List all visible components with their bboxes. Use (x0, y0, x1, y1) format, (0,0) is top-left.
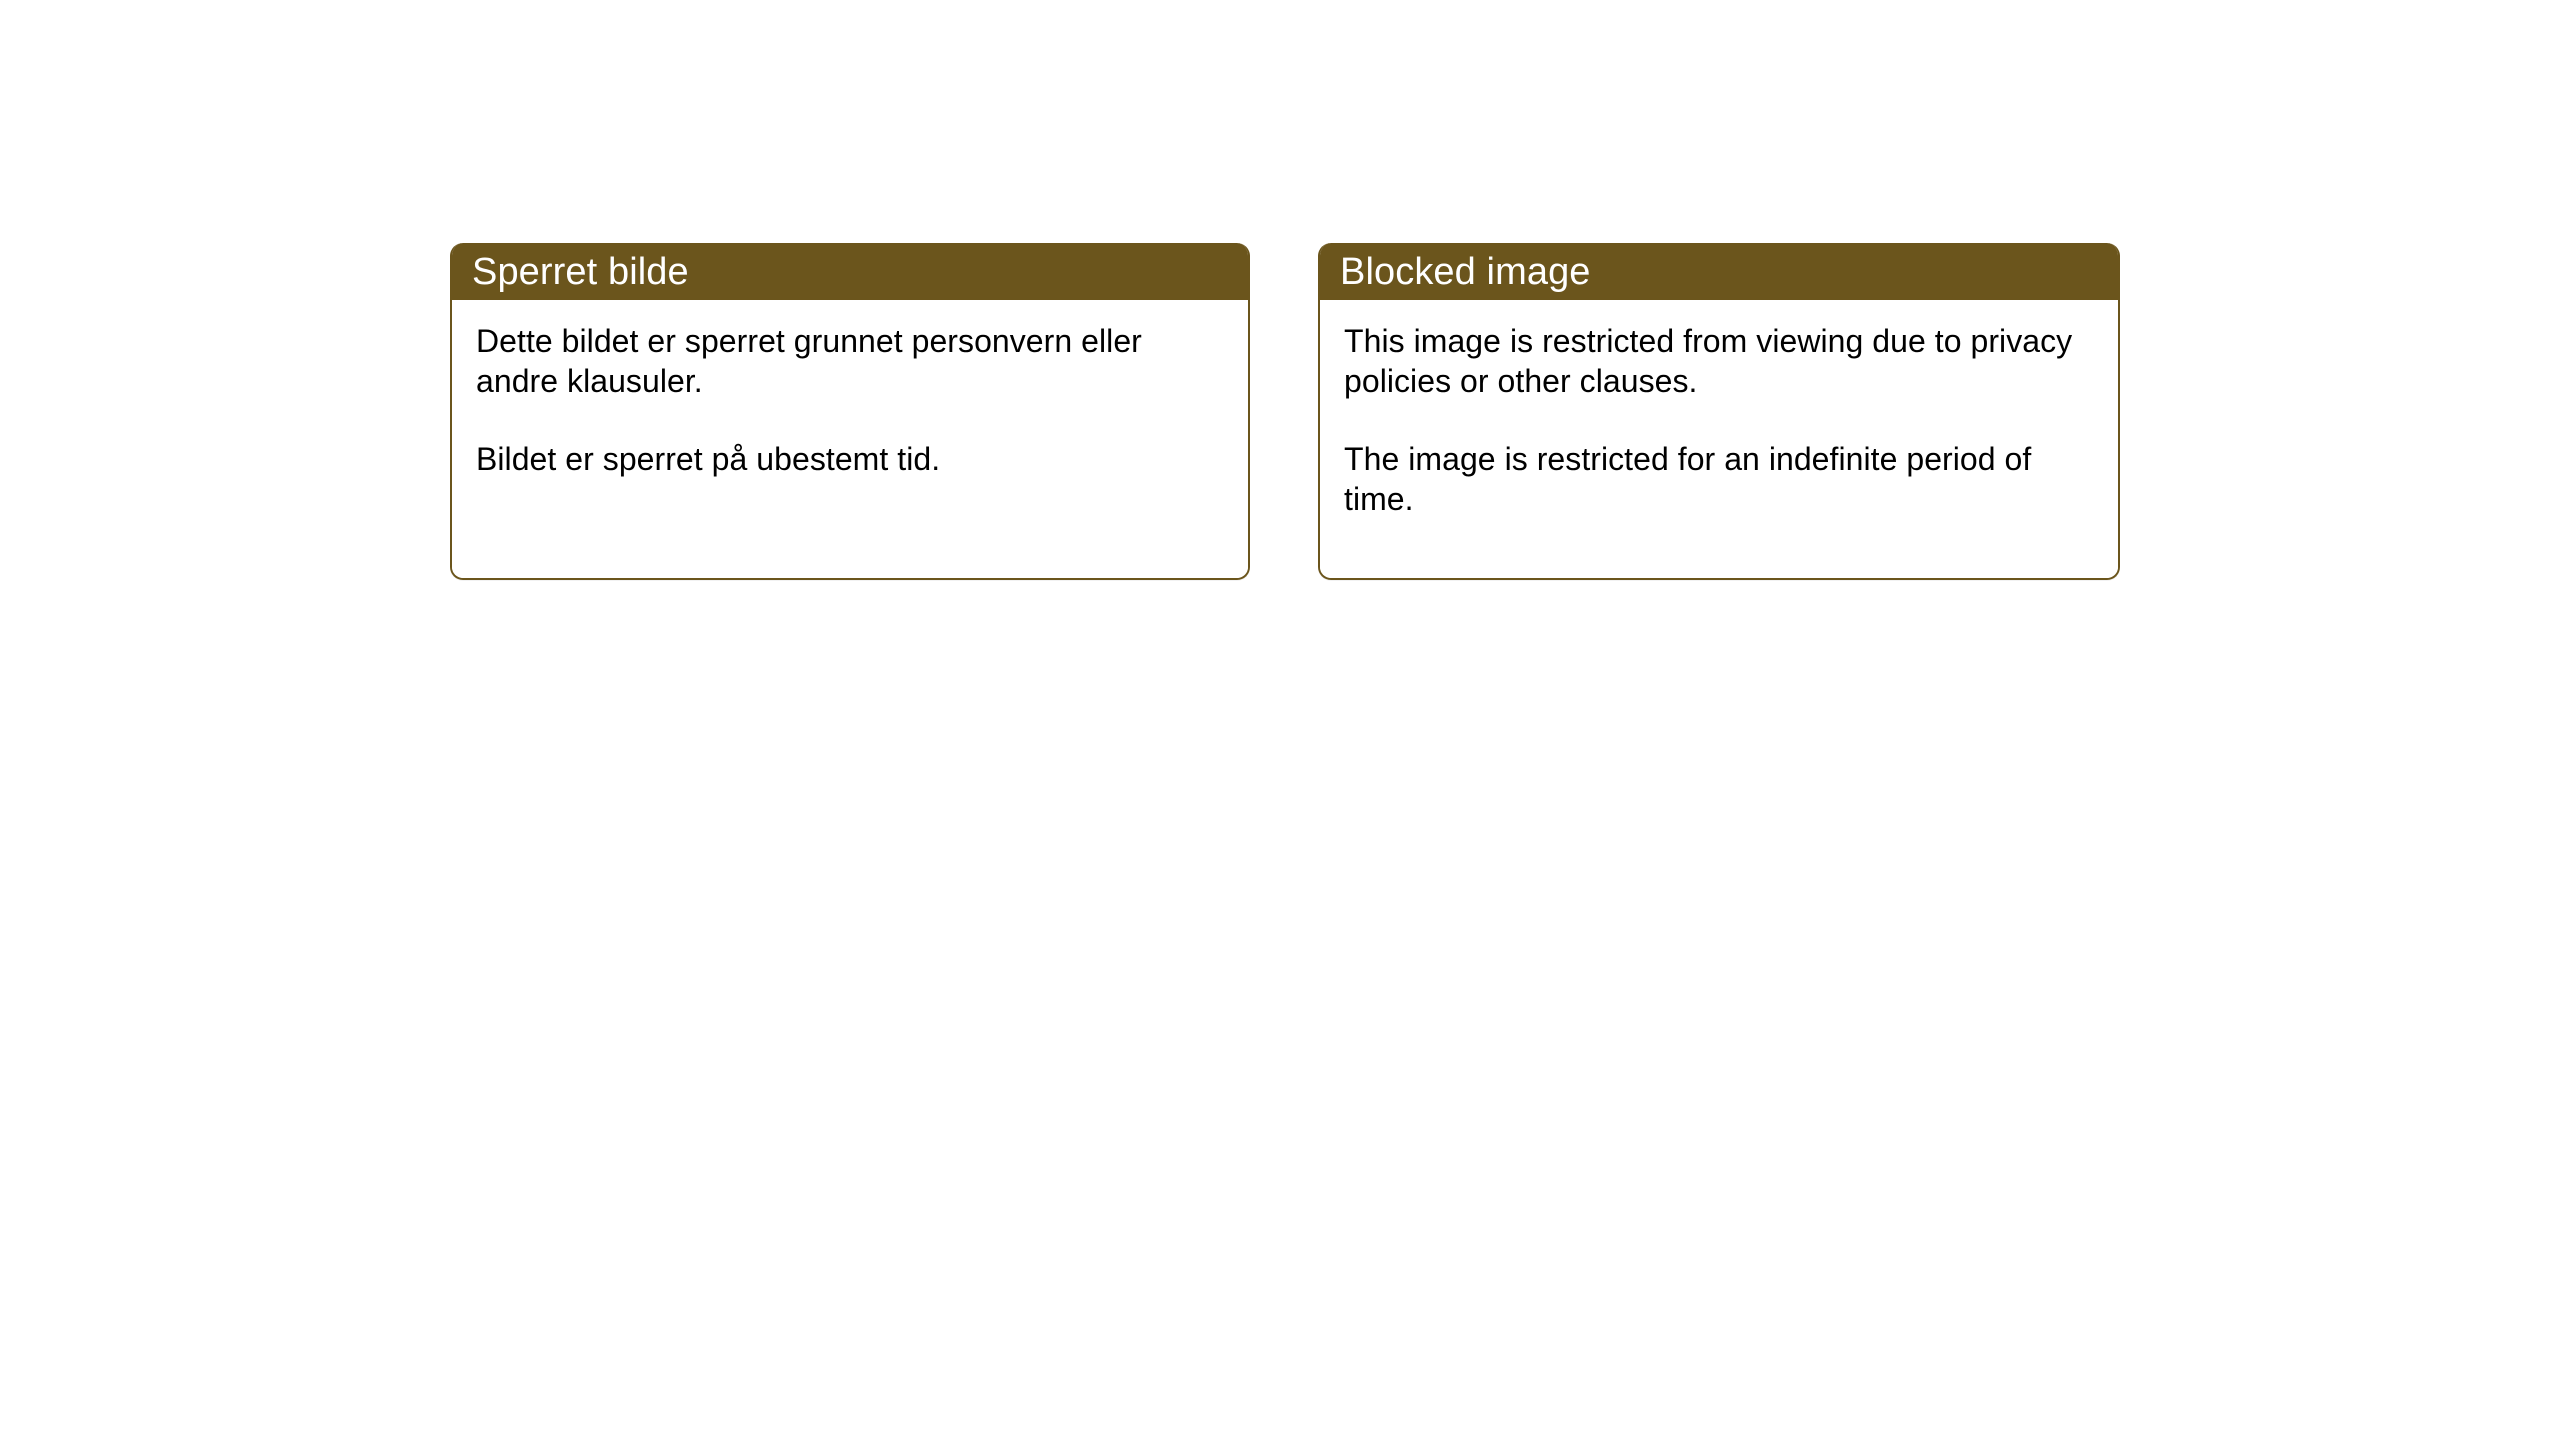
panel-body-english: This image is restricted from viewing du… (1320, 300, 2118, 578)
blocked-image-panel-english: Blocked image This image is restricted f… (1318, 243, 2120, 580)
panel-body-norwegian: Dette bildet er sperret grunnet personve… (452, 300, 1248, 578)
panel-paragraph-reason-norwegian: Dette bildet er sperret grunnet personve… (476, 322, 1224, 401)
panel-header-norwegian: Sperret bilde (450, 243, 1250, 300)
panel-header-english: Blocked image (1318, 243, 2120, 300)
panel-paragraph-reason-english: This image is restricted from viewing du… (1344, 322, 2094, 401)
panel-title-english: Blocked image (1340, 253, 1591, 291)
panel-paragraph-duration-norwegian: Bildet er sperret på ubestemt tid. (476, 440, 1224, 480)
panel-paragraph-duration-english: The image is restricted for an indefinit… (1344, 440, 2094, 519)
blocked-image-notice-group: Sperret bilde Dette bildet er sperret gr… (450, 243, 2120, 580)
panel-title-norwegian: Sperret bilde (472, 253, 689, 291)
blocked-image-panel-norwegian: Sperret bilde Dette bildet er sperret gr… (450, 243, 1250, 580)
page-canvas: Sperret bilde Dette bildet er sperret gr… (0, 0, 2560, 1440)
